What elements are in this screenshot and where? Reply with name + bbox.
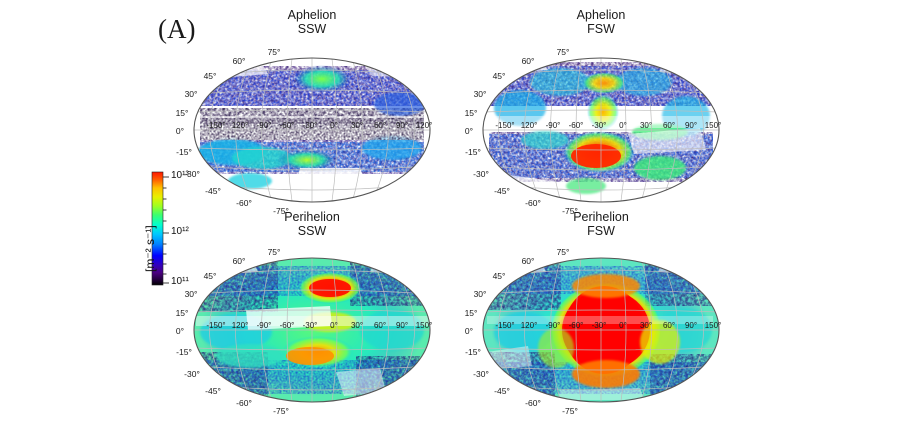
svg-text:-45°: -45° bbox=[494, 186, 510, 196]
svg-text:45°: 45° bbox=[204, 71, 217, 81]
colorbar-tick-1e12: 10¹² bbox=[171, 226, 189, 237]
svg-text:-90°: -90° bbox=[546, 121, 561, 130]
svg-text:150°: 150° bbox=[705, 121, 722, 130]
svg-text:0°: 0° bbox=[465, 126, 473, 136]
svg-text:30°: 30° bbox=[185, 289, 198, 299]
svg-text:-60°: -60° bbox=[236, 198, 252, 208]
svg-text:75°: 75° bbox=[557, 247, 570, 257]
svg-text:15°: 15° bbox=[176, 308, 189, 318]
svg-text:30°: 30° bbox=[185, 89, 198, 99]
map-title-perihelion-fsw: Perihelion FSW bbox=[541, 210, 661, 238]
svg-text:0°: 0° bbox=[465, 326, 473, 336]
svg-text:0°: 0° bbox=[176, 126, 184, 136]
svg-text:-60°: -60° bbox=[525, 198, 541, 208]
svg-text:-30°: -30° bbox=[473, 169, 489, 179]
figure-background bbox=[0, 0, 920, 430]
svg-text:-45°: -45° bbox=[205, 386, 221, 396]
svg-text:0°: 0° bbox=[330, 121, 338, 130]
svg-text:-90°: -90° bbox=[257, 121, 272, 130]
svg-text:90°: 90° bbox=[396, 121, 408, 130]
svg-text:75°: 75° bbox=[557, 47, 570, 57]
svg-text:90°: 90° bbox=[396, 321, 408, 330]
svg-text:0°: 0° bbox=[330, 321, 338, 330]
svg-text:30°: 30° bbox=[474, 89, 487, 99]
svg-text:-30°: -30° bbox=[592, 321, 607, 330]
svg-text:90°: 90° bbox=[685, 121, 697, 130]
svg-text:-30°: -30° bbox=[303, 321, 318, 330]
svg-text:30°: 30° bbox=[351, 321, 363, 330]
svg-text:45°: 45° bbox=[493, 271, 506, 281]
svg-text:45°: 45° bbox=[493, 71, 506, 81]
svg-text:45°: 45° bbox=[204, 271, 217, 281]
svg-text:-45°: -45° bbox=[205, 186, 221, 196]
svg-text:15°: 15° bbox=[465, 308, 478, 318]
svg-text:-60°: -60° bbox=[236, 398, 252, 408]
svg-text:60°: 60° bbox=[663, 321, 675, 330]
svg-text:-60°: -60° bbox=[280, 321, 295, 330]
svg-text:15°: 15° bbox=[176, 108, 189, 118]
svg-text:-150°: -150° bbox=[495, 121, 514, 130]
svg-text:60°: 60° bbox=[663, 121, 675, 130]
svg-text:30°: 30° bbox=[351, 121, 363, 130]
svg-text:75°: 75° bbox=[268, 247, 281, 257]
map-title-aphelion-fsw: Aphelion FSW bbox=[541, 8, 661, 36]
svg-text:-30°: -30° bbox=[184, 369, 200, 379]
svg-text:-30°: -30° bbox=[303, 121, 318, 130]
colorbar-tick-1e11: 10¹¹ bbox=[171, 276, 189, 287]
svg-text:120°: 120° bbox=[416, 121, 433, 130]
svg-text:120°: 120° bbox=[232, 121, 249, 130]
colorbar-tick-1e13: 10¹³ bbox=[171, 170, 189, 181]
svg-text:75°: 75° bbox=[268, 47, 281, 57]
svg-text:-30°: -30° bbox=[473, 369, 489, 379]
svg-text:120°: 120° bbox=[232, 321, 249, 330]
svg-text:120°: 120° bbox=[521, 121, 538, 130]
svg-text:60°: 60° bbox=[374, 321, 386, 330]
svg-text:15°: 15° bbox=[465, 108, 478, 118]
svg-text:60°: 60° bbox=[374, 121, 386, 130]
svg-text:-15°: -15° bbox=[465, 347, 481, 357]
svg-text:30°: 30° bbox=[474, 289, 487, 299]
svg-text:-90°: -90° bbox=[257, 321, 272, 330]
svg-text:-60°: -60° bbox=[525, 398, 541, 408]
svg-text:30°: 30° bbox=[640, 121, 652, 130]
svg-text:30°: 30° bbox=[640, 321, 652, 330]
svg-text:-150°: -150° bbox=[495, 321, 514, 330]
svg-text:-90°: -90° bbox=[546, 321, 561, 330]
svg-text:-45°: -45° bbox=[494, 386, 510, 396]
svg-text:0°: 0° bbox=[619, 121, 627, 130]
panel-letter: (A) bbox=[158, 14, 195, 45]
colorbar-axis-label: [m⁻² s⁻¹] bbox=[143, 225, 157, 272]
svg-text:-150°: -150° bbox=[206, 121, 225, 130]
svg-text:-60°: -60° bbox=[280, 121, 295, 130]
svg-text:-75°: -75° bbox=[562, 406, 578, 416]
svg-text:150°: 150° bbox=[705, 321, 722, 330]
svg-text:-15°: -15° bbox=[176, 147, 192, 157]
svg-text:60°: 60° bbox=[522, 56, 535, 66]
svg-text:0°: 0° bbox=[176, 326, 184, 336]
svg-text:150°: 150° bbox=[416, 321, 433, 330]
map-title-aphelion-ssw: Aphelion SSW bbox=[252, 8, 372, 36]
svg-text:90°: 90° bbox=[685, 321, 697, 330]
map-title-perihelion-ssw: Perihelion SSW bbox=[252, 210, 372, 238]
svg-text:0°: 0° bbox=[619, 321, 627, 330]
svg-text:-75°: -75° bbox=[273, 406, 289, 416]
figure-canvas: 75° 60° 45° 30° 15° 0° -15° -30° -45° -6… bbox=[0, 0, 920, 430]
svg-text:-15°: -15° bbox=[176, 347, 192, 357]
svg-text:-60°: -60° bbox=[569, 121, 584, 130]
svg-text:60°: 60° bbox=[233, 256, 246, 266]
svg-text:-15°: -15° bbox=[465, 147, 481, 157]
svg-text:120°: 120° bbox=[521, 321, 538, 330]
svg-text:60°: 60° bbox=[233, 56, 246, 66]
svg-text:-150°: -150° bbox=[206, 321, 225, 330]
svg-text:60°: 60° bbox=[522, 256, 535, 266]
svg-text:-60°: -60° bbox=[569, 321, 584, 330]
svg-text:-30°: -30° bbox=[592, 121, 607, 130]
